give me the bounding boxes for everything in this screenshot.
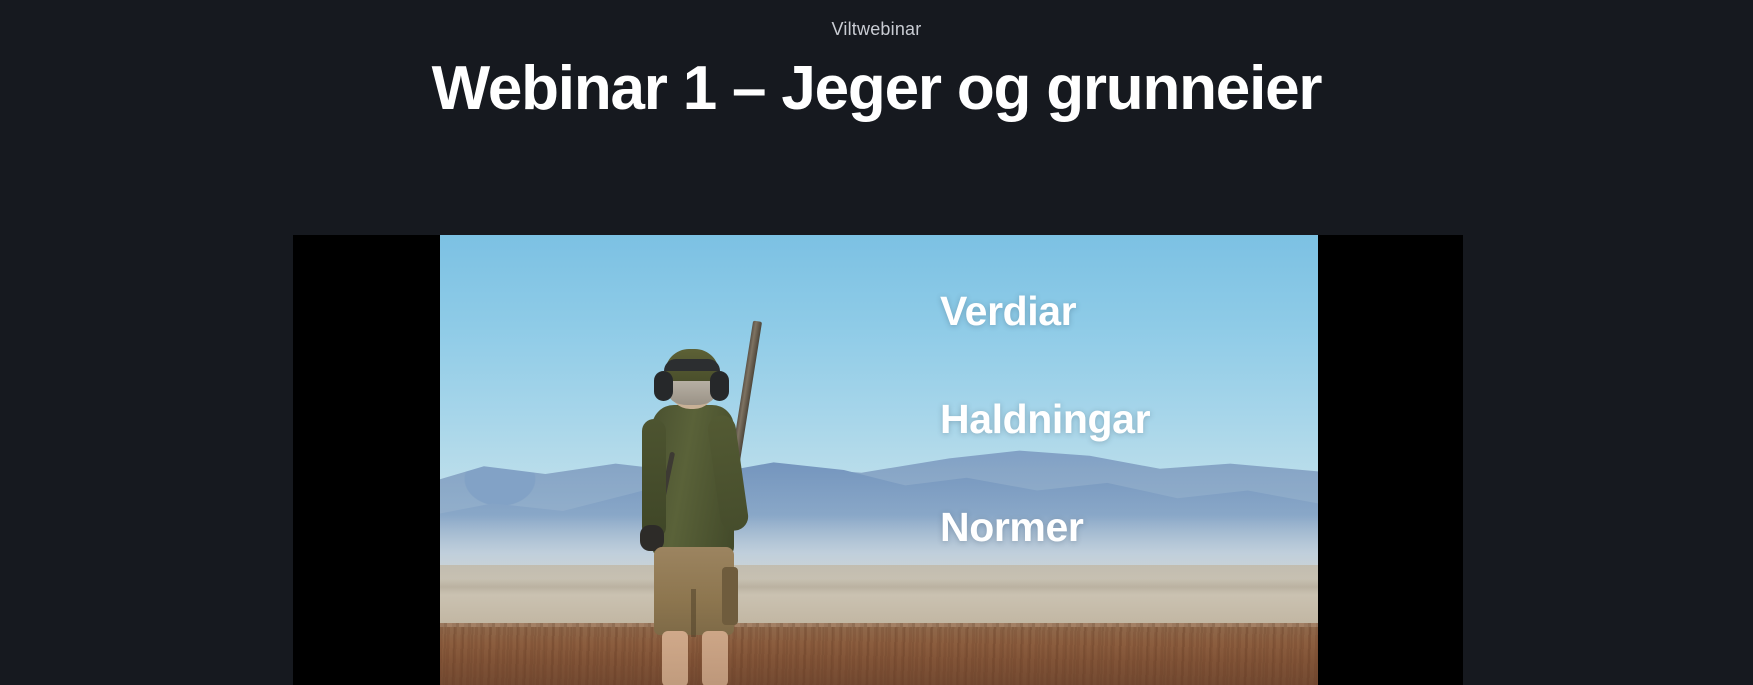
presentation-slide: Verdiar Haldningar Normer [440, 235, 1318, 685]
hunter-shorts-seam [691, 589, 696, 637]
hunter-leg-right [702, 631, 728, 685]
video-player[interactable]: Verdiar Haldningar Normer [293, 235, 1463, 685]
slide-keyword-list: Verdiar Haldningar Normer [940, 287, 1270, 551]
letterbox-left [293, 235, 440, 685]
page-root: Viltwebinar Webinar 1 – Jeger og grunnei… [0, 0, 1753, 685]
page-title: Webinar 1 – Jeger og grunneier [0, 53, 1753, 125]
slide-keyword-3: Normer [940, 503, 1270, 551]
hunter-hair [669, 379, 715, 405]
slide-keyword-1: Verdiar [940, 287, 1270, 335]
hunter-left-arm [642, 419, 666, 539]
hunter-figure [638, 319, 772, 685]
slide-keyword-2: Haldningar [940, 395, 1270, 443]
hunter-leg-left [662, 631, 688, 685]
series-name: Viltwebinar [0, 18, 1753, 40]
letterbox-right [1318, 235, 1463, 685]
slide-tundra-plain [440, 565, 1318, 631]
ear-protection-band [664, 359, 720, 371]
slide-heather-texture [440, 627, 1318, 685]
slide-plain-streak [440, 579, 1318, 595]
hunter-pouch [722, 567, 738, 625]
ear-protection-left [654, 371, 673, 401]
ear-protection-right [710, 371, 729, 401]
page-header: Viltwebinar Webinar 1 – Jeger og grunnei… [0, 0, 1753, 125]
